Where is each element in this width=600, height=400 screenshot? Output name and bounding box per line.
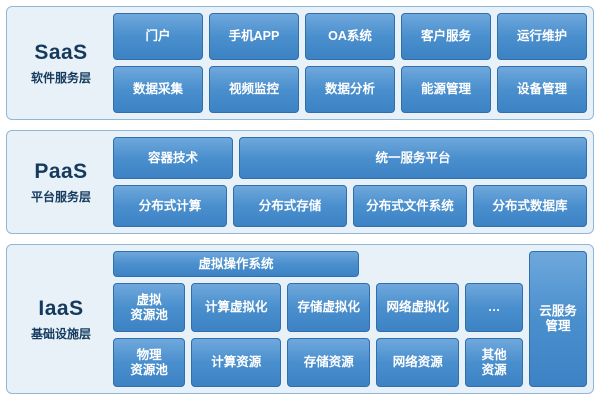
- saas-cell-grid: 门户 手机APP OA系统 客户服务 运行维护 数据采集 视频监控 数据分析 能…: [113, 13, 587, 113]
- saas-cell-energy-management[interactable]: 能源管理: [401, 66, 491, 113]
- paas-cell-distributed-file-system[interactable]: 分布式文件系统: [353, 185, 467, 227]
- iaas-cell-cloud-service-management[interactable]: 云服务 管理: [529, 251, 587, 387]
- iaas-cell-network-resource[interactable]: 网络资源: [376, 338, 459, 387]
- iaas-cell-compute-virtualization[interactable]: 计算虚拟化: [191, 283, 281, 332]
- iaas-cell-virtual-resource-pool[interactable]: 虚拟 资源池: [113, 283, 185, 332]
- layer-iaas-title: IaaS 基础设施层: [13, 251, 109, 387]
- layer-paas-cn: 平台服务层: [31, 190, 91, 205]
- saas-cell-data-collection[interactable]: 数据采集: [113, 66, 203, 113]
- saas-cell-device-management[interactable]: 设备管理: [497, 66, 587, 113]
- layer-paas-abbr: PaaS: [34, 159, 87, 185]
- paas-cell-unified-service-platform[interactable]: 统一服务平台: [239, 137, 587, 179]
- iaas-cell-compute-resource[interactable]: 计算资源: [191, 338, 281, 387]
- iaas-cell-storage-resource[interactable]: 存储资源: [287, 338, 370, 387]
- paas-cell-distributed-storage[interactable]: 分布式存储: [233, 185, 347, 227]
- saas-cell-video-surveillance[interactable]: 视频监控: [209, 66, 299, 113]
- saas-cell-operation-maintenance[interactable]: 运行维护: [497, 13, 587, 60]
- saas-cell-oa-system[interactable]: OA系统: [305, 13, 395, 60]
- iaas-body: 虚拟操作系统 虚拟 资源池 计算虚拟化 存储虚拟化 网络虚拟化 … 物理 资源池…: [113, 251, 587, 387]
- iaas-cell-storage-virtualization[interactable]: 存储虚拟化: [287, 283, 370, 332]
- saas-cell-portal[interactable]: 门户: [113, 13, 203, 60]
- architecture-diagram: SaaS 软件服务层 门户 手机APP OA系统 客户服务 运行维护 数据采集 …: [0, 0, 600, 400]
- saas-cell-customer-service[interactable]: 客户服务: [401, 13, 491, 60]
- layer-saas-title: SaaS 软件服务层: [13, 13, 109, 113]
- iaas-cell-more-virtualization[interactable]: …: [465, 283, 523, 332]
- layer-iaas-abbr: IaaS: [38, 296, 83, 322]
- paas-cell-container-technology[interactable]: 容器技术: [113, 137, 233, 179]
- iaas-main-column: 虚拟操作系统 虚拟 资源池 计算虚拟化 存储虚拟化 网络虚拟化 … 物理 资源池…: [113, 251, 523, 387]
- iaas-cell-virtual-operating-system[interactable]: 虚拟操作系统: [113, 251, 359, 277]
- paas-body: 容器技术 统一服务平台 分布式计算 分布式存储 分布式文件系统 分布式数据库: [113, 137, 587, 227]
- layer-iaas: IaaS 基础设施层 虚拟操作系统 虚拟 资源池 计算虚拟化 存储虚拟化 网络虚…: [6, 244, 594, 394]
- iaas-side-column: 云服务 管理: [529, 251, 587, 387]
- layer-saas: SaaS 软件服务层 门户 手机APP OA系统 客户服务 运行维护 数据采集 …: [6, 6, 594, 120]
- layer-saas-cn: 软件服务层: [31, 71, 91, 86]
- paas-row-lower: 分布式计算 分布式存储 分布式文件系统 分布式数据库: [113, 185, 587, 227]
- paas-row-upper: 容器技术 统一服务平台: [113, 137, 587, 179]
- iaas-cell-other-resource[interactable]: 其他 资源: [465, 338, 523, 387]
- iaas-cell-physical-resource-pool[interactable]: 物理 资源池: [113, 338, 185, 387]
- paas-cell-distributed-computing[interactable]: 分布式计算: [113, 185, 227, 227]
- layer-paas: PaaS 平台服务层 容器技术 统一服务平台 分布式计算 分布式存储 分布式文件…: [6, 130, 594, 234]
- layer-iaas-cn: 基础设施层: [31, 327, 91, 342]
- paas-cell-distributed-database[interactable]: 分布式数据库: [473, 185, 587, 227]
- iaas-cell-network-virtualization[interactable]: 网络虚拟化: [376, 283, 459, 332]
- saas-cell-data-analysis[interactable]: 数据分析: [305, 66, 395, 113]
- saas-cell-mobile-app[interactable]: 手机APP: [209, 13, 299, 60]
- layer-paas-title: PaaS 平台服务层: [13, 137, 109, 227]
- layer-saas-abbr: SaaS: [34, 40, 87, 66]
- iaas-cell-matrix: 虚拟 资源池 计算虚拟化 存储虚拟化 网络虚拟化 … 物理 资源池 计算资源 存…: [113, 283, 523, 387]
